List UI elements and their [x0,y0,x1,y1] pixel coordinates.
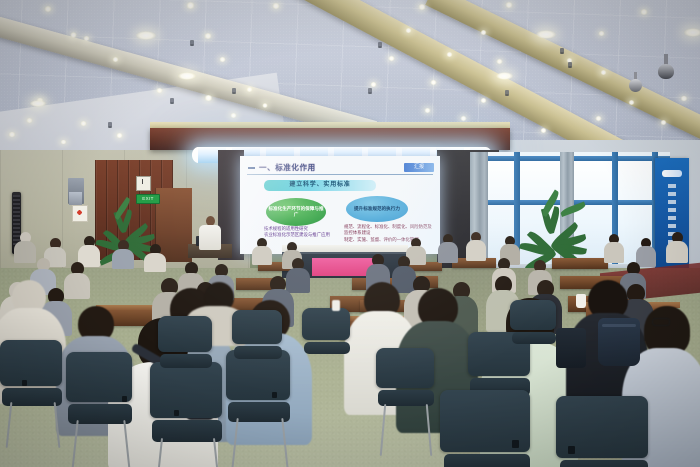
sprinkler-head [378,42,382,47]
ceiling-downlight [26,118,33,123]
audience-person [666,232,688,262]
ceiling-downlight [44,6,52,12]
audience-person [438,234,458,262]
ceiling-downlight [370,82,377,87]
ceiling-downlight [246,87,253,92]
ceiling-downlight [540,128,547,133]
audience-person [604,234,624,262]
ceiling-downlight [204,33,212,39]
security-camera-icon [629,72,642,92]
ceiling-downlight-large [178,72,196,80]
ceiling-downlight [204,95,213,101]
audience-person [466,232,486,260]
ceiling-downlight [598,31,605,36]
audience-person [252,238,272,264]
ceiling-downlight [388,56,395,61]
audience-person [144,244,166,270]
slide-bubble-blue: 提升标准规范的执行力 [346,196,408,222]
slide-title-rule [247,174,433,175]
ceiling-downlight [640,9,648,15]
slide-bullet-item: 农业标准化示范区建设与推广应用 [264,232,330,238]
slide-title: 一、标准化作用 [259,162,316,173]
ceiling-downlight [219,57,226,62]
ceiling-downlight-large [136,31,156,40]
security-camera-icon [658,54,674,80]
sprinkler-head [368,88,372,93]
ceiling-downlight [272,3,280,9]
sprinkler-head [568,62,572,67]
ceiling-downlight [112,57,119,62]
slide-section-banner: 建立科学、实用标准 [264,180,376,191]
ceiling-downlight [446,52,453,57]
ceiling-downlight [156,88,163,93]
travel-bag [598,318,640,366]
sprinkler-head [190,40,194,45]
ceiling-downlight-large [536,30,556,39]
eyeglasses-icon [652,318,670,326]
presenter [198,216,222,250]
slide-section-banner-label: 建立科学、实用标准 [264,180,376,191]
presenter-body [199,225,221,250]
paper-cup [332,300,340,311]
ceiling-downlight [496,59,503,64]
banner-logo-icon [662,170,682,177]
ceiling-downlight [8,132,16,137]
slide-bullet-item: 规范、流程化、标准化、制度化、风险防范及监控体系建设 [344,224,432,237]
ceiling-downlight [480,30,487,35]
ceiling-downlight [628,100,635,105]
slide-page-tag: 汇报 [404,163,434,172]
podium-front-panel [312,258,374,276]
ceiling-downlight [230,113,237,118]
slide-bubble-green: 标准化生产环节的保障与推广 [266,198,326,226]
conference-hall-photo: EXIT 一、标准化作用 汇报 建立科学、实用标准 标准化生产环节的保障与推广 … [0,0,700,467]
ceiling-downlight [430,80,437,85]
ceiling-downlight [262,103,268,108]
wall-notice-poster [72,205,88,222]
slide-page-tag-label: 汇报 [404,163,434,172]
audience-table [552,258,608,269]
slide-title-bar: 一、标准化作用 汇报 [240,162,440,175]
ceiling-downlight [60,140,67,144]
slide-bullets-left: 技术规程的适用性研究 农业标准化示范区建设与推广应用 [264,226,330,239]
audience-person [112,240,134,268]
ceiling-downlight-large [496,72,513,80]
ceiling-downlight [600,70,607,75]
ceiling-downlight [660,120,667,125]
wall-equipment-box [68,178,84,204]
sprinkler-head [108,122,112,127]
paper-cup [576,294,586,308]
sprinkler-head [232,88,236,93]
ceiling-downlight-large [684,28,700,37]
ceiling-downlight [80,121,87,126]
sprinkler-head [560,48,564,53]
ceiling-downlight [70,32,77,38]
ceiling-downlight [418,4,426,10]
backpack [556,328,586,368]
ceiling-downlight [505,2,513,8]
sprinkler-head [505,90,509,95]
ceiling-downlight [116,133,123,138]
ceiling-downlight [595,116,602,121]
ceiling-downlight [480,98,487,103]
ceiling-downlight [405,28,412,33]
ceiling-downlight [424,108,431,113]
wall-clock-icon [136,176,151,191]
ceiling-downlight [680,96,688,101]
ceiling-downlight [460,116,467,121]
sprinkler-head [170,98,174,103]
ceiling-downlight [83,36,90,41]
ceiling-downlight-large [30,100,46,107]
ceiling-downlight [186,2,195,9]
slide-title-dash [248,167,255,169]
